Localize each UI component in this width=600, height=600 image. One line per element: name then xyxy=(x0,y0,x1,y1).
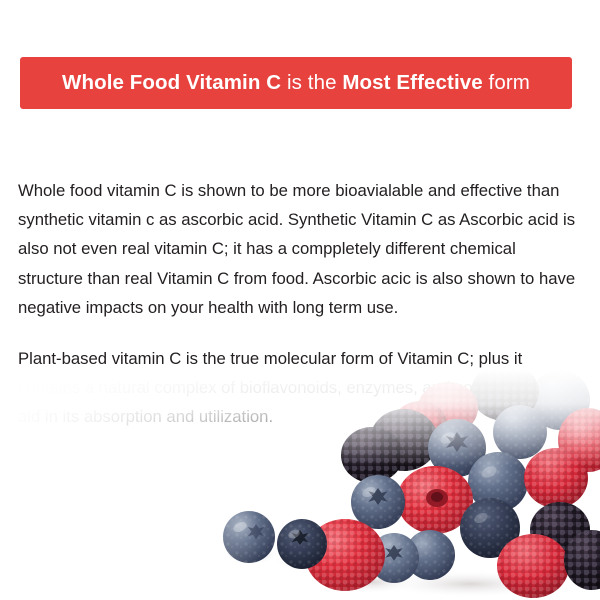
raspberry-core xyxy=(426,489,448,507)
headline-segment-3: Most Effective xyxy=(342,71,482,94)
headline-segment-4: form xyxy=(483,71,530,94)
raspberry-left xyxy=(305,519,385,591)
berry-shadows xyxy=(222,546,560,598)
blueberry-crown xyxy=(446,432,468,452)
berry-group-left xyxy=(223,427,419,591)
blueberry-loose-2 xyxy=(277,519,327,569)
blueberry-front xyxy=(369,533,419,583)
blueberry-mid xyxy=(351,475,405,529)
berry-cluster-front xyxy=(397,466,600,598)
blueberry-loose-1 xyxy=(223,511,275,563)
poster-root: Whole Food Vitamin C is the Most Effecti… xyxy=(0,0,600,600)
headline-segment-1: Whole Food Vitamin C xyxy=(62,71,281,94)
paragraph-1: Whole food vitamin C is shown to be more… xyxy=(18,176,584,322)
paragraph-2: Plant-based vitamin C is the true molecu… xyxy=(18,344,584,432)
body-copy: Whole food vitamin C is shown to be more… xyxy=(18,176,584,432)
berry-highlights xyxy=(232,430,499,540)
headline-segment-2: is the xyxy=(281,71,342,94)
headline-text: Whole Food Vitamin C is the Most Effecti… xyxy=(62,73,530,94)
blackberry-solo xyxy=(341,427,403,483)
headline-banner: Whole Food Vitamin C is the Most Effecti… xyxy=(20,57,572,109)
